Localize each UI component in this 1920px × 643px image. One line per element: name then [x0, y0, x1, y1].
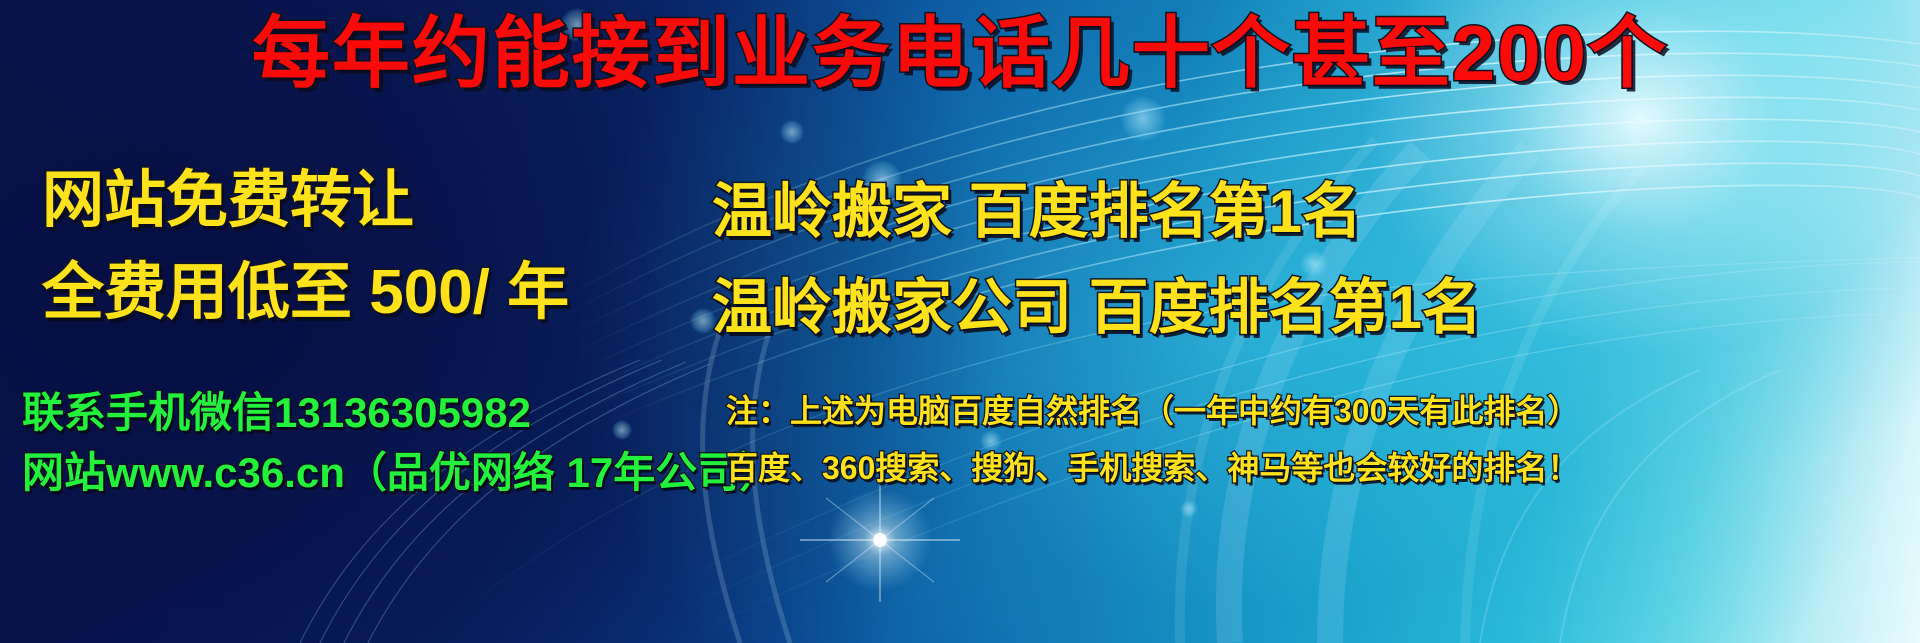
- offer-line-transfer: 网站免费转让: [42, 170, 414, 232]
- offer-line-price: 全费用低至 500/ 年: [42, 262, 569, 324]
- bokeh-dot: [1180, 500, 1198, 518]
- note-line-1: 注：上述为电脑百度自然排名（一年中约有300天有此排名）: [726, 395, 1579, 427]
- contact-website-text: 网站www.c36.cn（品优网络 17年公司）: [22, 452, 781, 494]
- ranking-line-moving: 温岭搬家 百度排名第1名: [712, 182, 1362, 242]
- bokeh-dot: [780, 120, 804, 144]
- bokeh-dot: [1120, 96, 1166, 142]
- headline-text: 每年约能接到业务电话几十个甚至200个: [0, 14, 1920, 92]
- note-line-2: 百度、360搜索、搜狗、手机搜索、神马等也会较好的排名！: [726, 452, 1579, 484]
- contact-phone-text: 联系手机微信13136305982: [22, 392, 531, 434]
- bokeh-dot: [980, 430, 1002, 452]
- bokeh-dot: [612, 420, 632, 440]
- promo-banner: 每年约能接到业务电话几十个甚至200个 网站免费转让 全费用低至 500/ 年 …: [0, 0, 1920, 643]
- ranking-line-moving-company: 温岭搬家公司 百度排名第1名: [712, 278, 1482, 338]
